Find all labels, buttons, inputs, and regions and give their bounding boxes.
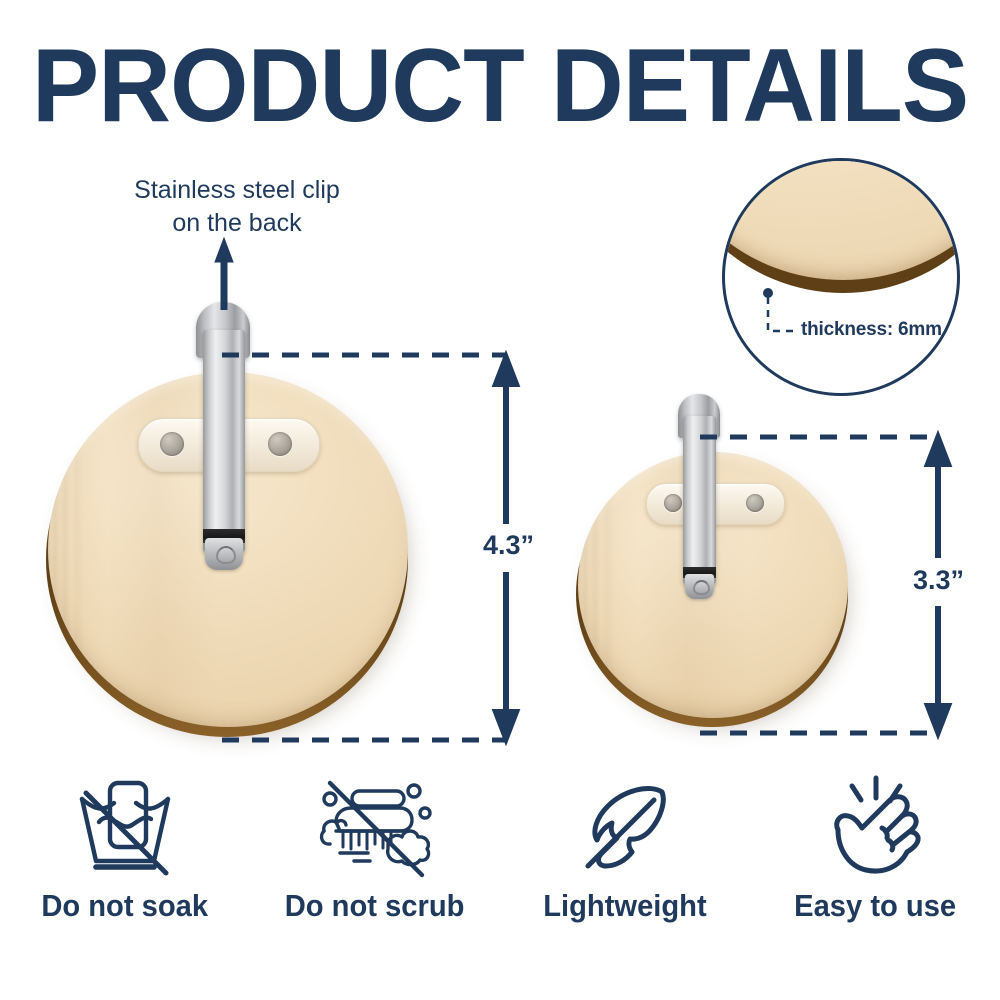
large-clip-strip xyxy=(203,330,245,552)
large-dimension-label: 4.3” xyxy=(483,530,534,561)
snap-hand-icon xyxy=(820,772,930,884)
large-clip-foot-hole xyxy=(216,546,236,564)
feature-do-not-soak: Do not soak xyxy=(0,772,250,924)
feature-row: Do not soak xyxy=(0,772,1000,924)
feature-label: Do not soak xyxy=(42,888,209,924)
clip-annotation-text: Stainless steel clip on the back xyxy=(92,174,382,240)
infographic-canvas: PRODUCT DETAILS Stainless steel clip on … xyxy=(0,0,1000,1000)
clip-annotation-line2: on the back xyxy=(92,207,382,240)
thickness-leader-line xyxy=(725,161,960,396)
small-screw-left xyxy=(664,494,682,512)
feature-label: Lightweight xyxy=(543,888,706,924)
feature-easy-to-use: Easy to use xyxy=(750,772,1000,924)
feature-label: Easy to use xyxy=(794,888,956,924)
clip-annotation-line1: Stainless steel clip xyxy=(92,174,382,207)
no-scrub-icon xyxy=(310,772,440,884)
small-screw-right xyxy=(746,494,764,512)
feature-lightweight: Lightweight xyxy=(500,772,750,924)
thickness-label: thickness: 6mm xyxy=(801,319,942,341)
large-screw-right xyxy=(268,432,292,456)
small-clip-foot-hole xyxy=(693,580,710,595)
small-clip-strip xyxy=(683,416,716,584)
clip-annotation-arrow xyxy=(215,238,233,310)
feather-icon xyxy=(566,772,684,884)
large-screw-left xyxy=(160,432,184,456)
feature-label: Do not scrub xyxy=(285,888,465,924)
page-title: PRODUCT DETAILS xyxy=(15,34,985,138)
feature-do-not-scrub: Do not scrub xyxy=(250,772,500,924)
thickness-magnifier: thickness: 6mm xyxy=(722,158,960,396)
no-soak-icon xyxy=(66,772,184,884)
small-dimension-label: 3.3” xyxy=(913,565,964,596)
